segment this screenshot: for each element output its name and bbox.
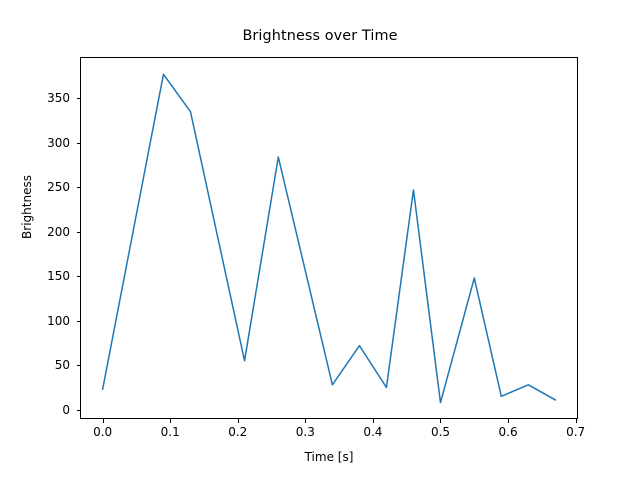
y-tick-mark (77, 410, 81, 411)
x-tick-label: 0.1 (140, 426, 200, 438)
x-tick-mark (238, 419, 239, 423)
line-series-svg (80, 57, 578, 419)
x-tick-label: 0.5 (410, 426, 470, 438)
y-tick-label: 100 (47, 315, 70, 327)
plot-area (80, 57, 578, 419)
y-tick-mark (77, 276, 81, 277)
y-tick-label: 250 (47, 181, 70, 193)
y-tick-mark (77, 232, 81, 233)
y-tick-label: 150 (47, 270, 70, 282)
y-axis-label: Brightness (20, 147, 34, 267)
y-tick-mark (77, 365, 81, 366)
x-axis-label: Time [s] (80, 450, 578, 464)
x-tick-mark (170, 419, 171, 423)
x-tick-mark (373, 419, 374, 423)
x-tick-label: 0.3 (275, 426, 335, 438)
chart-title: Brightness over Time (0, 28, 640, 44)
x-tick-label: 0.0 (73, 426, 133, 438)
x-tick-mark (508, 419, 509, 423)
brightness-line (103, 74, 556, 402)
x-tick-mark (576, 419, 577, 423)
x-tick-label: 0.4 (343, 426, 403, 438)
y-tick-label: 350 (47, 92, 70, 104)
x-tick-mark (440, 419, 441, 423)
matplotlib-figure: Brightness over Time 0501001502002503003… (0, 0, 640, 480)
y-tick-mark (77, 321, 81, 322)
y-tick-mark (77, 143, 81, 144)
x-tick-label: 0.7 (546, 426, 606, 438)
x-tick-mark (103, 419, 104, 423)
x-tick-label: 0.2 (208, 426, 268, 438)
y-tick-mark (77, 98, 81, 99)
y-tick-label: 0 (62, 404, 70, 416)
y-tick-label: 200 (47, 226, 70, 238)
y-tick-label: 50 (55, 359, 70, 371)
y-tick-mark (77, 187, 81, 188)
x-tick-mark (305, 419, 306, 423)
x-tick-label: 0.6 (478, 426, 538, 438)
y-tick-label: 300 (47, 137, 70, 149)
